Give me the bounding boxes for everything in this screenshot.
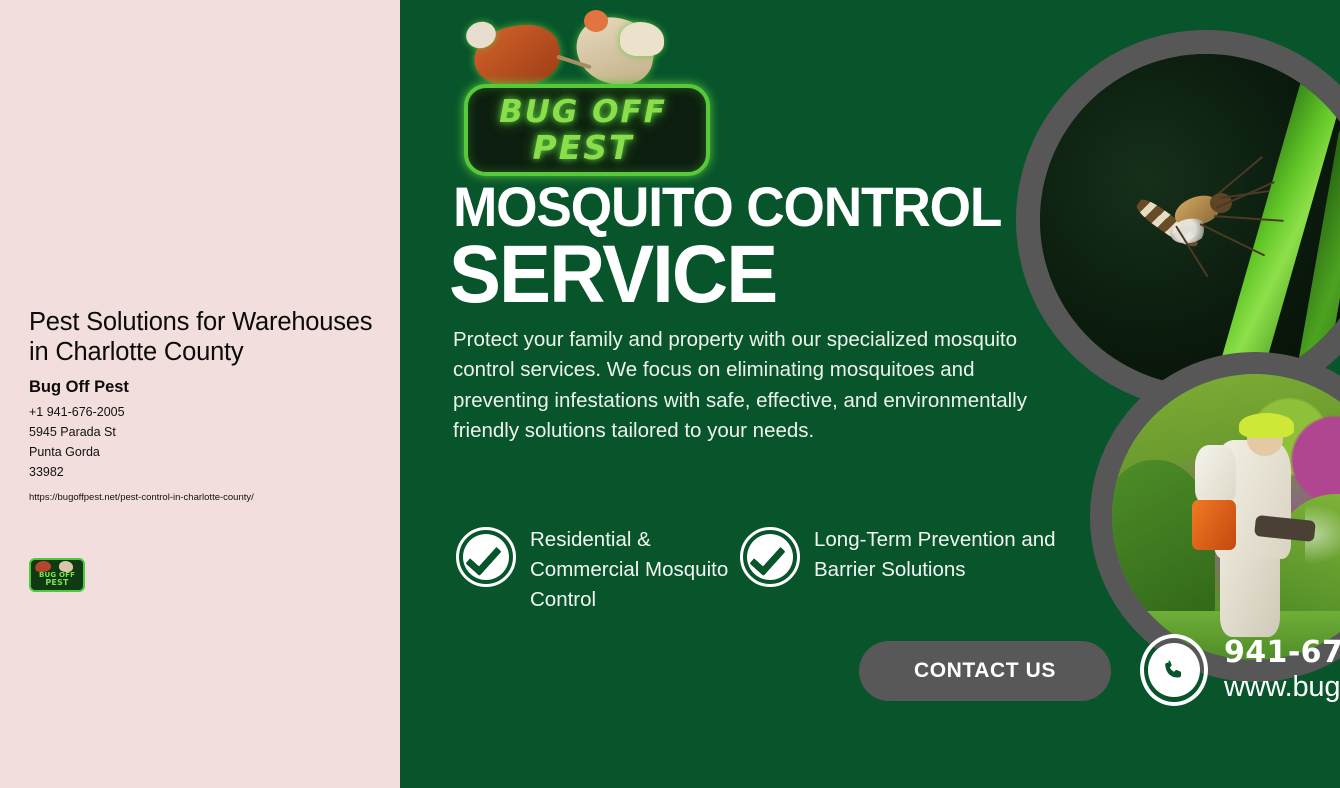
logo-line2: PEST — [464, 128, 702, 167]
bug-off-pest-logo-small: BUG OFF PEST — [29, 558, 85, 592]
business-zip: 33982 — [29, 463, 394, 483]
contact-info[interactable]: 941-676-2005 www.bugoffpest.net — [1140, 634, 1340, 706]
mini-logo-line2: PEST — [31, 578, 83, 587]
feature-item: Residential & Commercial Mosquito Contro… — [456, 525, 756, 615]
phone-text-block: 941-676-2005 www.bugoffpest.net — [1224, 636, 1340, 705]
listing-meta: Pest Solutions for Warehouses in Charlot… — [29, 308, 394, 505]
promo-flyer: BUG OFF PEST MOSQUITO CONTROL SERVICE Pr… — [400, 0, 1340, 788]
business-url[interactable]: https://bugoffpest.net/pest-control-in-c… — [29, 491, 394, 504]
sprayer-engine — [1192, 500, 1236, 550]
mouse-head — [620, 22, 664, 56]
business-city: Punta Gorda — [29, 443, 394, 463]
phone-icon — [1140, 634, 1208, 706]
mouse-ear — [584, 10, 608, 32]
business-street: 5945 Parada St — [29, 423, 394, 443]
technician-cap — [1239, 413, 1294, 438]
website-url[interactable]: www.bugoffpest.net — [1224, 670, 1340, 705]
headline-line1: MOSQUITO CONTROL — [453, 180, 1042, 235]
phone-number[interactable]: 941-676-2005 — [1224, 636, 1340, 670]
page-title: Pest Solutions for Warehouses in Charlot… — [29, 308, 394, 368]
business-phone: +1 941-676-2005 — [29, 403, 394, 423]
technician-spraying-photo — [1112, 374, 1340, 660]
flyer-page: Pest Solutions for Warehouses in Charlot… — [0, 0, 1340, 788]
description-paragraph: Protect your family and property with ou… — [453, 325, 1033, 446]
feature-label: Long-Term Prevention and Barrier Solutio… — [814, 525, 1070, 585]
headline-line2: SERVICE — [449, 237, 1042, 312]
bug-off-pest-logo: BUG OFF PEST — [460, 8, 710, 174]
feature-label: Residential & Commercial Mosquito Contro… — [530, 525, 756, 615]
headline: MOSQUITO CONTROL SERVICE — [453, 180, 1073, 312]
mosquito-illustration — [1140, 167, 1270, 317]
check-circle-icon — [456, 527, 516, 587]
business-name: Bug Off Pest — [29, 378, 394, 398]
check-circle-icon — [740, 527, 800, 587]
technician-illustration — [1192, 408, 1329, 637]
contact-us-button[interactable]: CONTACT US — [859, 641, 1111, 701]
sprayer-tank — [1195, 445, 1236, 504]
mosquito-photo — [1040, 54, 1340, 386]
mosquito-leg — [1199, 223, 1265, 256]
handset-glyph — [1162, 655, 1186, 685]
left-info-panel: Pest Solutions for Warehouses in Charlot… — [0, 0, 400, 788]
logo-line1: BUG OFF — [464, 94, 702, 130]
feature-item: Long-Term Prevention and Barrier Solutio… — [740, 525, 1070, 587]
